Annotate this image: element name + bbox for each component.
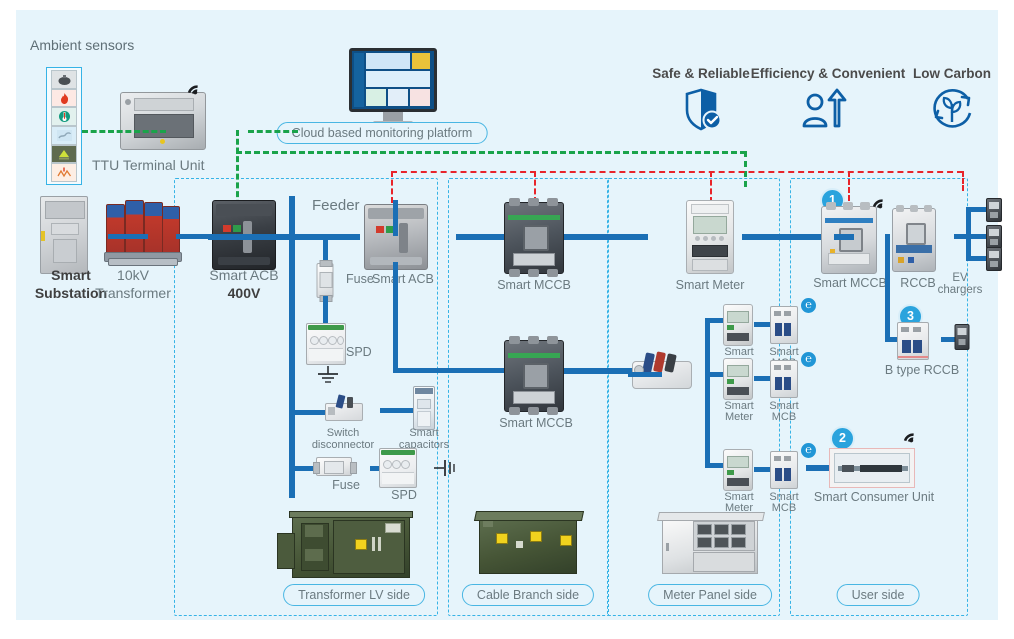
earth-symbol-top [313, 366, 343, 386]
diagram-panel: Ambient sensors [16, 10, 998, 620]
person-upgrade-icon [801, 86, 847, 137]
b-type-rccb-label: B type RCCB [885, 363, 959, 377]
camera-sensor-icon [51, 70, 77, 89]
cable-temperature-sensor-icon [51, 163, 77, 182]
wire-bus-to-switch-disconnector [292, 410, 326, 415]
bluetooth-icon-row-1: ℮ [801, 352, 816, 367]
smart-meter-main-device [686, 200, 734, 274]
feature-title-2: Low Carbon [913, 66, 991, 81]
red-comm-drop-meter [710, 171, 712, 203]
cable-branch-mccb-bottom-device [504, 340, 564, 412]
bluetooth-icon-row-2: ℮ [801, 443, 816, 458]
ev-charger-1-device [986, 225, 1002, 249]
cable-branch-mccb-top-label: Smart MCCB [497, 278, 571, 292]
red-comm-right-end [962, 171, 964, 191]
smart-consumer-unit-label: Smart Consumer Unit [814, 490, 934, 504]
user-smart-mccb-device [821, 206, 877, 274]
smart-capacitors-label-line1: Smart [409, 427, 438, 439]
wire-switch-to-capacitors [380, 408, 414, 413]
smart-substation-device [40, 196, 88, 274]
smoke-sensor-icon [51, 126, 77, 145]
zone-caption-cable-branch: Cable Branch side [462, 584, 594, 606]
smart-mcb-row-2-device [770, 451, 798, 489]
cable-branch-cabinet-image [479, 516, 577, 574]
monitor-screen [349, 48, 437, 112]
smart-meter-row-0-device [723, 304, 753, 346]
transformer-label-line1: 10kV [117, 268, 149, 284]
zone-caption-meter-panel: Meter Panel side [648, 584, 772, 606]
green-comm-ttu-out [248, 130, 298, 133]
wire-feeder-acb-drop [393, 262, 398, 372]
smart-mcb-row-0-device [770, 306, 798, 344]
bluetooth-icon-row-0: ℮ [801, 298, 816, 313]
user-rccb-label: RCCB [900, 276, 935, 290]
switch-disconnector-label-line1: Switch [327, 427, 359, 439]
fuse-top-device [317, 263, 334, 298]
spd-top-label: SPD [346, 345, 372, 359]
smart-mcb-row-1-device [770, 360, 798, 398]
feature-title-1: Efficiency & Convenient [751, 66, 906, 81]
shield-check-icon [679, 86, 723, 137]
gas-sensor-icon [51, 145, 77, 164]
wire-into-junction-box [628, 372, 662, 377]
ttu-wifi-icon [184, 78, 206, 102]
feature-title-0: Safe & Reliable [652, 66, 750, 81]
green-comm-sensors-to-ttu [82, 130, 166, 133]
ttu-label: TTU Terminal Unit [92, 158, 205, 174]
meter-row-1-mcb-label-line2: MCB [772, 411, 796, 423]
monitor-stand [383, 112, 403, 121]
meter-row-2-mcb-label-line2: MCB [772, 502, 796, 514]
fuse-top-label: Fuse [346, 272, 374, 286]
cable-branch-mccb-top-device [504, 202, 564, 274]
fire-sensor-icon [51, 89, 77, 108]
wire-user-mccb-drop [885, 234, 890, 342]
wire-feeder-acb-riser [393, 200, 398, 236]
cable-branch-mccb-bottom-label: Smart MCCB [499, 416, 573, 430]
ev-chargers-label-line2: chargers [938, 284, 983, 297]
red-comm-bus [391, 171, 963, 173]
red-comm-drop-user-mccb [848, 171, 850, 201]
main-horizontal-busbar-top [208, 234, 360, 240]
zone-user [790, 178, 968, 616]
smart-meter-main-label: Smart Meter [676, 278, 745, 292]
transformer-device [102, 194, 182, 270]
b-type-ev-charger-device [955, 324, 970, 350]
ev-charger-2-device [986, 247, 1002, 271]
meter-branch-riser [705, 320, 710, 468]
fuse-bottom-device [316, 457, 352, 476]
main-acb-label-line1: Smart ACB [209, 268, 278, 284]
leaf-recycle-icon [929, 86, 975, 137]
spd-bottom-device [379, 448, 417, 488]
zone-caption-transformer-lv: Transformer LV side [283, 584, 425, 606]
wire-into-user-mccb [834, 234, 854, 240]
ambient-sensors-title: Ambient sensors [30, 38, 134, 54]
zone-caption-user: User side [837, 584, 920, 606]
spd-bottom-label: SPD [391, 488, 417, 502]
red-comm-drop-feeder-acb [391, 171, 393, 203]
user-rccb-device [892, 208, 936, 272]
switch-disconnector-label-line2: disconnector [312, 439, 374, 451]
consumer-unit-wifi-icon [900, 426, 922, 450]
smart-consumer-unit-device [829, 448, 915, 488]
wire-mccb-top-out [564, 234, 648, 240]
smart-meter-row-2-device [723, 449, 753, 491]
earth-symbol-bottom [434, 456, 458, 480]
switch-disconnector-device [325, 395, 361, 423]
main-vertical-busbar [289, 196, 295, 498]
cloud-monitor-device [349, 48, 437, 125]
fuse-bottom-label: Fuse [332, 478, 360, 492]
smart-capacitors-device [413, 386, 435, 430]
meter-panel-cabinet-image [662, 516, 758, 574]
spd-top-device [306, 323, 346, 365]
ev-chargers-label-line1: EV [952, 272, 967, 285]
diagram-root: Ambient sensors [0, 0, 1014, 639]
wire-fuse-to-spd [323, 296, 328, 324]
green-comm-cloud-bus [236, 151, 746, 154]
transformer-label-line2: Transformer [95, 286, 171, 302]
ambient-sensor-strip [46, 67, 82, 185]
temperature-sensor-icon [51, 107, 77, 126]
cloud-platform-caption: Cloud based monitoring platform [277, 122, 488, 144]
b-type-rccb-device [897, 322, 929, 360]
transformer-lv-cabinet-image [292, 514, 410, 578]
main-acb-label-line2: 400V [228, 286, 261, 302]
green-comm-cloud-drop [744, 151, 747, 187]
feeder-acb-label: Smart ACB [372, 272, 434, 286]
meter-row-1-meter-label-line2: Meter [725, 411, 753, 423]
user-mccb-wifi-icon [869, 192, 891, 216]
smart-meter-row-1-device [723, 358, 753, 400]
user-smart-mccb-label: Smart MCCB [813, 276, 887, 290]
ev-charger-0-device [986, 198, 1002, 222]
smart-substation-label-line1: Smart [51, 268, 91, 284]
feeder-label: Feeder [312, 198, 360, 215]
wire-substation-to-transformer [108, 234, 148, 239]
